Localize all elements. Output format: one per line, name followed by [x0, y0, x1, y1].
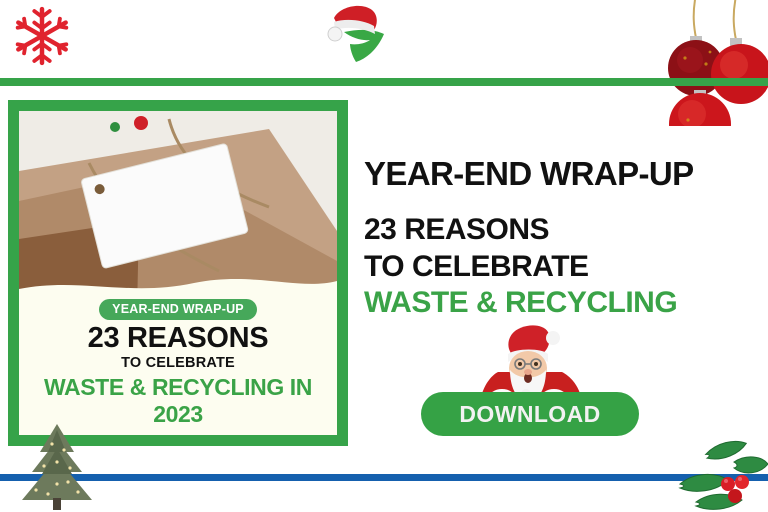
thumbnail-celebrate: TO CELEBRATE — [19, 355, 337, 371]
routeware-logo-with-santa-hat-icon[interactable] — [316, 4, 402, 74]
bottom-blue-divider — [0, 474, 768, 481]
page-title: YEAR-END WRAP-UP — [364, 155, 694, 193]
gift-photo — [19, 111, 337, 311]
promo-banner: YEAR-END WRAP-UP 23 REASONS TO CELEBRATE… — [0, 0, 768, 512]
thumbnail-waste-line: WASTE & RECYCLING IN 2023 — [19, 374, 337, 428]
download-button[interactable]: DOWNLOAD — [421, 392, 639, 436]
christmas-ornaments-icon — [640, 0, 768, 126]
snowflake-icon — [10, 4, 74, 68]
holly-berries-icon — [676, 440, 768, 512]
subheading: 23 REASONS TO CELEBRATE WASTE & RECYCLIN… — [364, 212, 677, 322]
subheading-line-2: TO CELEBRATE — [364, 249, 677, 286]
ebook-thumbnail-card[interactable]: YEAR-END WRAP-UP 23 REASONS TO CELEBRATE… — [8, 100, 348, 446]
subheading-line-1: 23 REASONS — [364, 212, 677, 249]
thumbnail-reasons: 23 REASONS — [19, 324, 337, 354]
subheading-line-3: WASTE & RECYCLING — [364, 285, 677, 322]
top-green-divider — [0, 78, 768, 86]
christmas-tree-icon — [14, 424, 100, 512]
thumbnail-badge: YEAR-END WRAP-UP — [99, 299, 257, 320]
